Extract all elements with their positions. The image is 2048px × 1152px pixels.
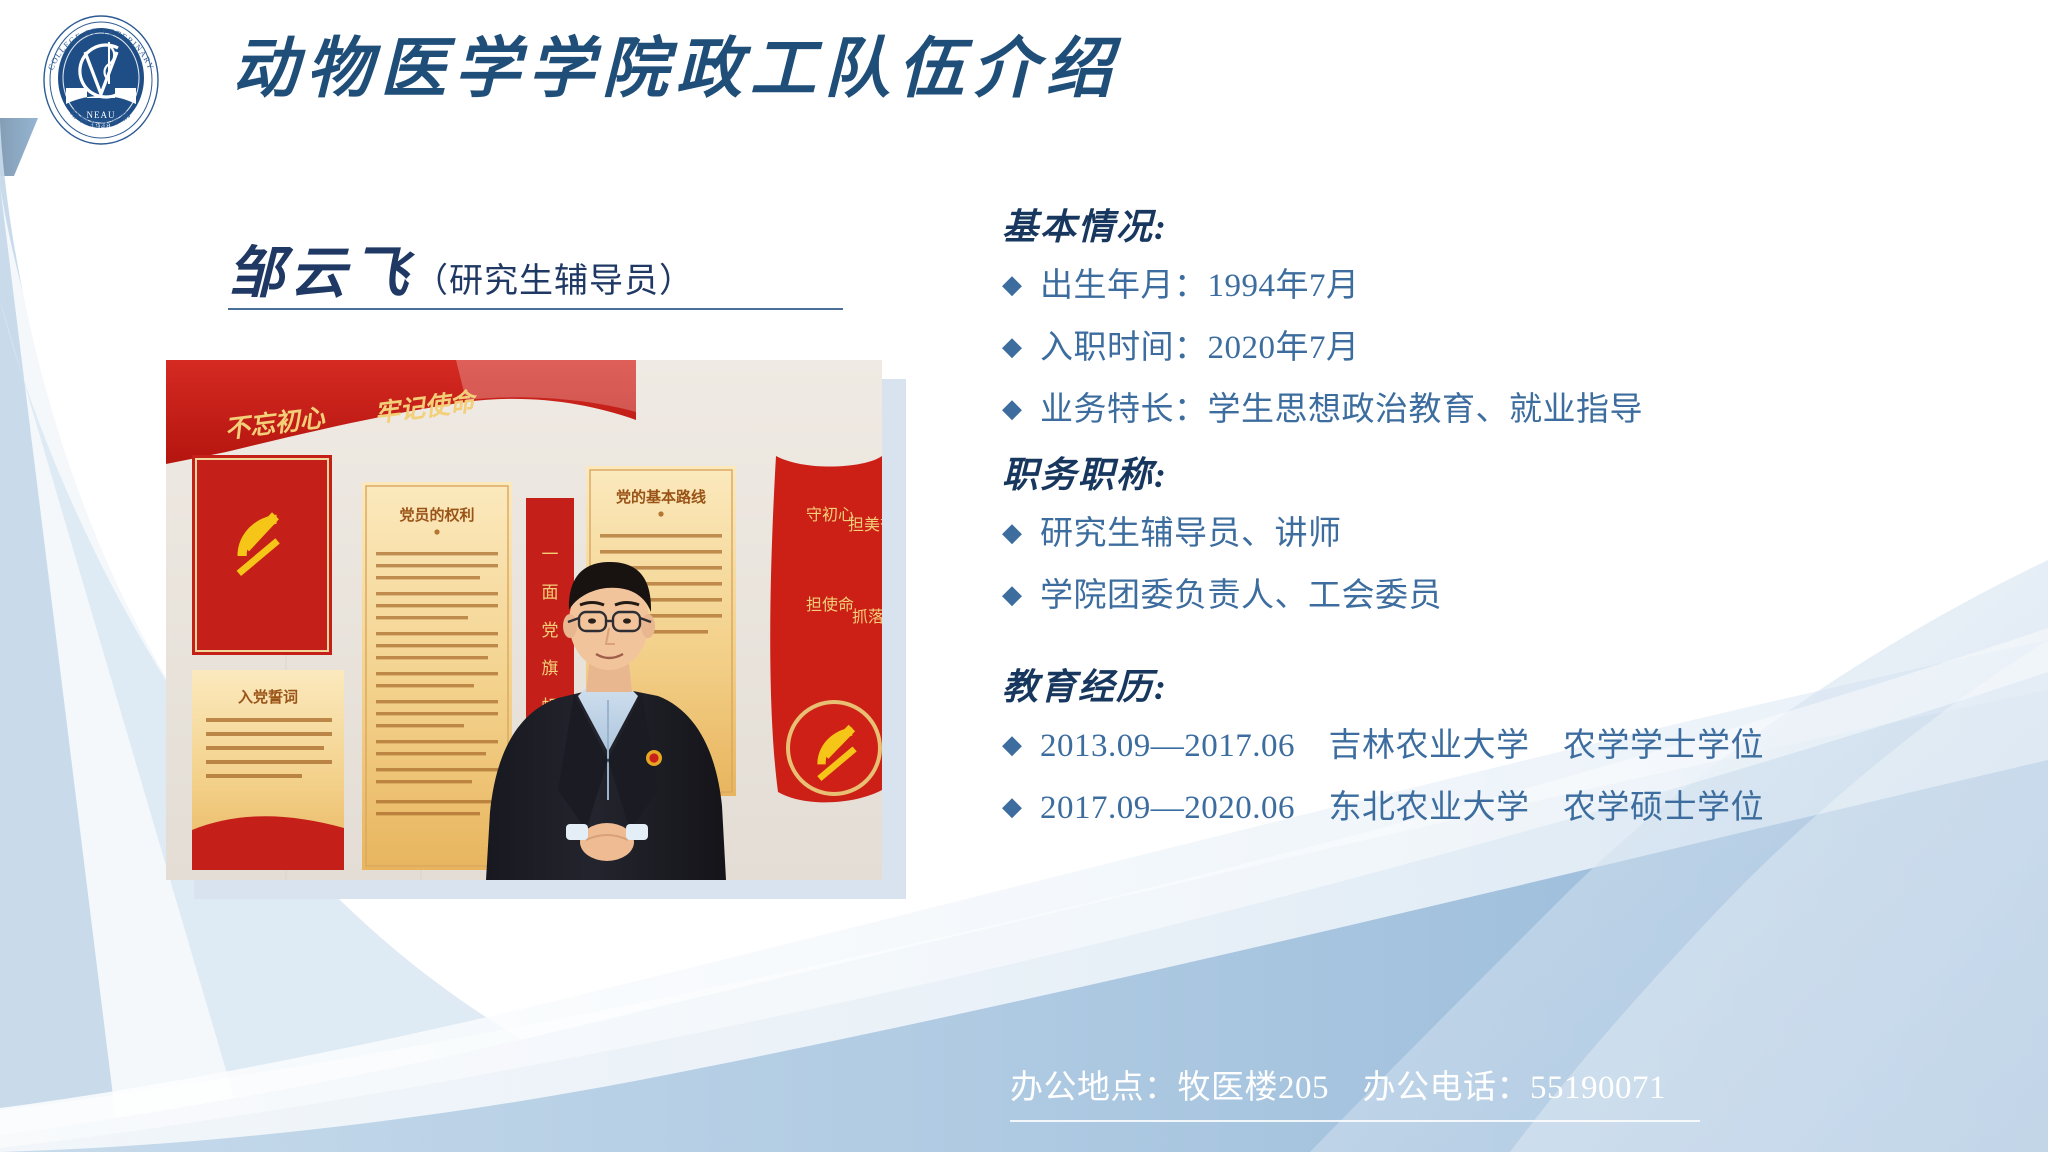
diamond-bullet-icon: ◆ (1002, 334, 1022, 360)
svg-text:面: 面 (542, 583, 559, 602)
list-item: ◆ 2013.09—2017.06 吉林农业大学 农学学士学位 (1002, 718, 2012, 766)
diamond-bullet-icon: ◆ (1002, 794, 1022, 820)
diamond-bullet-icon: ◆ (1002, 732, 1022, 758)
list-item-text: 2013.09—2017.06 吉林农业大学 农学学士学位 (1040, 718, 1764, 766)
section-heading: 基本情况: (1002, 198, 2012, 250)
section-education: 教育经历: ◆ 2013.09—2017.06 吉林农业大学 农学学士学位 ◆ … (1002, 658, 2012, 828)
page-title: 动物医学学院政工队伍介绍 (232, 32, 1120, 108)
list-item: ◆ 2017.09—2020.06 东北农业大学 农学硕士学位 (1002, 780, 2012, 828)
list-item-text: 学院团委负责人、工会委员 (1040, 568, 1442, 616)
svg-text:党: 党 (542, 621, 559, 640)
section-heading: 教育经历: (1002, 658, 2012, 710)
slide-canvas: COLLEGE OF VETERINARY NEAU -1948- 动物医学学院… (0, 0, 2048, 1152)
college-logo-icon: COLLEGE OF VETERINARY NEAU -1948- 动物医学学院 (40, 12, 162, 148)
slide-header: COLLEGE OF VETERINARY NEAU -1948- 动物医学学院… (0, 0, 2048, 160)
list-item: ◆ 研究生辅导员、讲师 (1002, 506, 2012, 554)
svg-text:入党誓词: 入党誓词 (238, 688, 298, 706)
diamond-bullet-icon: ◆ (1002, 396, 1022, 422)
person-name: 邹云飞 (228, 243, 414, 305)
section-position-title: 职务职称: ◆ 研究生辅导员、讲师 ◆ 学院团委负责人、工会委员 (1002, 446, 2012, 616)
section-basic-info: 基本情况: ◆ 出生年月：1994年7月 ◆ 入职时间：2020年7月 ◆ 业务… (1002, 198, 2012, 430)
profile-details: 基本情况: ◆ 出生年月：1994年7月 ◆ 入职时间：2020年7月 ◆ 业务… (1002, 198, 2012, 844)
svg-text:担美誉: 担美誉 (848, 516, 882, 534)
slide-footer: 办公地点：牧医楼205 办公电话：55190071 (1010, 1060, 1730, 1122)
footer-contact-text: 办公地点：牧医楼205 办公电话：55190071 (1010, 1060, 1730, 1108)
college-logo: COLLEGE OF VETERINARY NEAU -1948- 动物医学学院 (40, 12, 162, 148)
profile-photo-image: 不忘初心 牢记使命 入党誓词 党 (166, 360, 882, 880)
person-role: （研究生辅导员） (414, 263, 694, 300)
svg-text:旗: 旗 (542, 659, 559, 678)
svg-text:党员的权利: 党员的权利 (399, 506, 474, 524)
profile-photo: 不忘初心 牢记使命 入党誓词 党 (166, 360, 882, 880)
list-item: ◆ 入职时间：2020年7月 (1002, 320, 2012, 368)
bullet-list: ◆ 出生年月：1994年7月 ◆ 入职时间：2020年7月 ◆ 业务特长：学生思… (1002, 258, 2012, 430)
list-item: ◆ 学院团委负责人、工会委员 (1002, 568, 2012, 616)
section-spacer (1002, 632, 2012, 658)
profile-name-row: 邹云飞（研究生辅导员） (228, 228, 694, 309)
list-item-text: 2017.09—2020.06 东北农业大学 农学硕士学位 (1040, 780, 1764, 828)
diamond-bullet-icon: ◆ (1002, 520, 1022, 546)
list-item: ◆ 出生年月：1994年7月 (1002, 258, 2012, 306)
svg-text:抓落实: 抓落实 (852, 608, 882, 626)
list-item-text: 研究生辅导员、讲师 (1040, 506, 1342, 554)
list-item-text: 入职时间：2020年7月 (1040, 320, 1360, 368)
svg-text:担使命: 担使命 (806, 596, 854, 614)
footer-divider (1010, 1120, 1700, 1122)
section-heading: 职务职称: (1002, 446, 2012, 498)
diamond-bullet-icon: ◆ (1002, 272, 1022, 298)
svg-text:一: 一 (542, 545, 559, 564)
svg-text:党的基本路线: 党的基本路线 (616, 488, 706, 506)
svg-text:守初心: 守初心 (806, 506, 854, 524)
diamond-bullet-icon: ◆ (1002, 582, 1022, 608)
bullet-list: ◆ 研究生辅导员、讲师 ◆ 学院团委负责人、工会委员 (1002, 506, 2012, 616)
bullet-list: ◆ 2013.09—2017.06 吉林农业大学 农学学士学位 ◆ 2017.0… (1002, 718, 2012, 828)
name-divider (228, 308, 843, 310)
list-item-text: 业务特长：学生思想政治教育、就业指导 (1040, 382, 1643, 430)
list-item: ◆ 业务特长：学生思想政治教育、就业指导 (1002, 382, 2012, 430)
list-item-text: 出生年月：1994年7月 (1040, 258, 1360, 306)
